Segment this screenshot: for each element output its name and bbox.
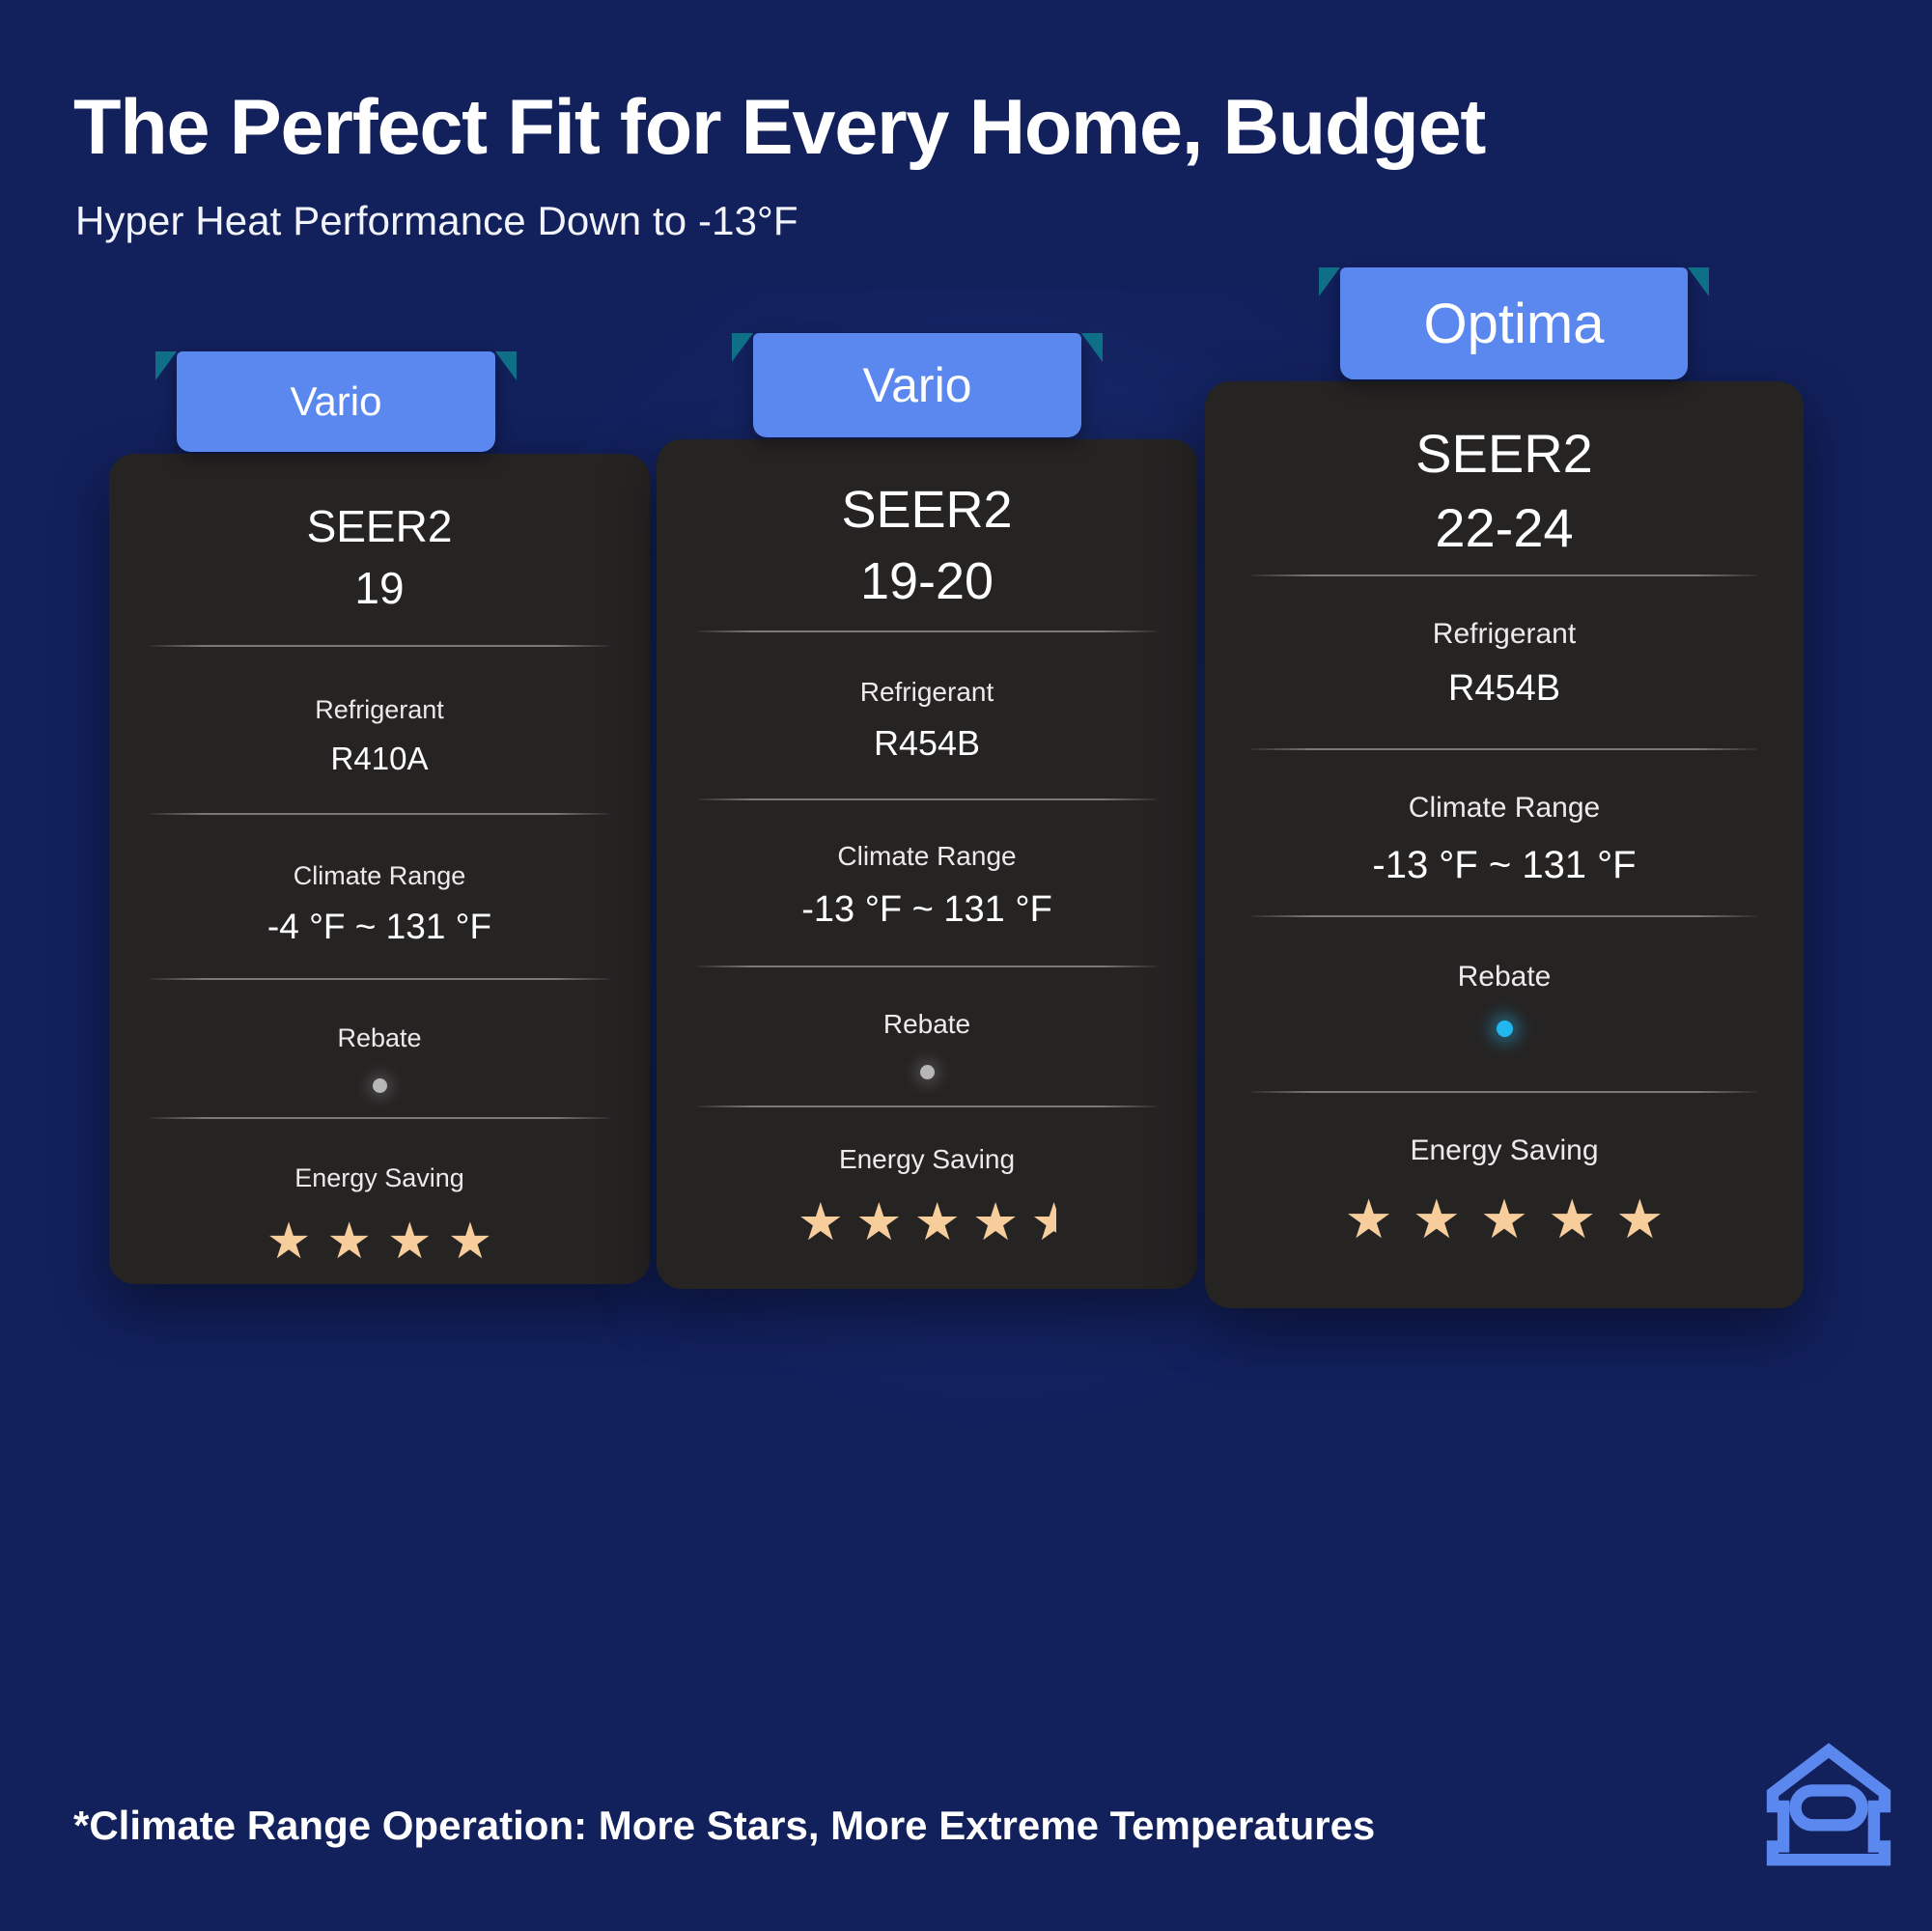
climate-range-label: Climate Range: [109, 861, 650, 891]
divider: [1251, 915, 1757, 917]
rebate-label: Rebate: [1205, 961, 1804, 993]
divider: [1251, 574, 1757, 576]
energy-saving-stars: ★ ★ ★ ★: [109, 1217, 650, 1267]
climate-range-label: Climate Range: [657, 841, 1197, 872]
divider: [1251, 1091, 1757, 1093]
climate-range-label: Climate Range: [1205, 792, 1804, 825]
ribbon-fold-left-icon: [1319, 267, 1340, 296]
seer-value: 19: [109, 562, 650, 614]
house-outline-icon: [1773, 1750, 1885, 1860]
seer-value: 22-24: [1205, 496, 1804, 559]
ribbon-label: Vario: [862, 357, 971, 413]
star-icon: ★: [448, 1217, 493, 1267]
star-icon: ★: [1413, 1192, 1461, 1246]
page-subtitle: Hyper Heat Performance Down to -13°F: [75, 198, 798, 244]
divider: [697, 1105, 1157, 1107]
refrigerant-value: R410A: [109, 741, 650, 777]
card-ribbon-tab[interactable]: Vario: [177, 351, 495, 452]
star-icon: ★: [326, 1217, 372, 1267]
star-icon: ★: [1548, 1192, 1596, 1246]
divider: [1251, 748, 1757, 750]
star-icon: ★: [1615, 1192, 1664, 1246]
star-icon: ★: [855, 1196, 902, 1248]
seer-value: 19-20: [657, 551, 1197, 611]
ribbon-fold-right-icon: [495, 351, 517, 380]
energy-saving-label: Energy Saving: [109, 1163, 650, 1193]
divider: [697, 965, 1157, 967]
ribbon-fold-left-icon: [155, 351, 177, 380]
ribbon-fold-right-icon: [1688, 267, 1709, 296]
star-icon: ★: [1344, 1192, 1392, 1246]
product-card-optima[interactable]: Optima SEER2 22-24 Refrigerant R454B Cli…: [1205, 381, 1804, 1308]
energy-saving-label: Energy Saving: [657, 1144, 1197, 1175]
page-title: The Perfect Fit for Every Home, Budget: [73, 83, 1485, 173]
card-ribbon-tab[interactable]: Optima: [1340, 267, 1688, 379]
divider: [150, 645, 609, 647]
refrigerant-label: Refrigerant: [1205, 618, 1804, 651]
star-icon: ★: [266, 1217, 312, 1267]
product-card-vario-19-20[interactable]: Vario SEER2 19-20 Refrigerant R454B Clim…: [657, 439, 1197, 1289]
climate-range-value: -4 °F ~ 131 °F: [109, 907, 650, 947]
refrigerant-value: R454B: [657, 723, 1197, 764]
rebate-indicator-dot: [373, 1078, 387, 1093]
star-icon: ★: [1480, 1192, 1528, 1246]
star-icon: ★: [798, 1196, 844, 1248]
refrigerant-label: Refrigerant: [109, 695, 650, 725]
card-ribbon-tab[interactable]: Vario: [753, 333, 1081, 437]
seer-label: SEER2: [1205, 422, 1804, 485]
footnote: *Climate Range Operation: More Stars, Mo…: [73, 1803, 1375, 1849]
star-icon: ★: [914, 1196, 961, 1248]
star-icon: ★: [387, 1217, 433, 1267]
refrigerant-value: R454B: [1205, 668, 1804, 710]
rebate-label: Rebate: [657, 1009, 1197, 1040]
climate-range-value: -13 °F ~ 131 °F: [657, 889, 1197, 931]
seer-label: SEER2: [657, 480, 1197, 540]
product-card-vario-19[interactable]: Vario SEER2 19 Refrigerant R410A Climate…: [109, 454, 650, 1284]
seer-label: SEER2: [109, 500, 650, 552]
divider: [697, 798, 1157, 800]
divider: [697, 630, 1157, 632]
house-spiral-logo: [1762, 1740, 1895, 1873]
ribbon-label: Vario: [291, 378, 382, 425]
rebate-label: Rebate: [109, 1023, 650, 1053]
energy-saving-stars: ★ ★ ★ ★ ★: [657, 1196, 1197, 1248]
star-icon: ★: [972, 1196, 1019, 1248]
rebate-indicator-dot: [1497, 1021, 1513, 1037]
divider: [150, 978, 609, 980]
half-star-icon: ★: [1030, 1196, 1056, 1248]
ribbon-label: Optima: [1424, 292, 1605, 356]
climate-range-value: -13 °F ~ 131 °F: [1205, 844, 1804, 887]
divider: [150, 813, 609, 815]
energy-saving-stars: ★ ★ ★ ★ ★: [1205, 1192, 1804, 1246]
spiral-icon: [1796, 1790, 1862, 1825]
ribbon-fold-right-icon: [1081, 333, 1103, 362]
energy-saving-label: Energy Saving: [1205, 1134, 1804, 1167]
divider: [150, 1117, 609, 1119]
refrigerant-label: Refrigerant: [657, 677, 1197, 708]
rebate-indicator-dot: [920, 1065, 935, 1079]
ribbon-fold-left-icon: [732, 333, 753, 362]
